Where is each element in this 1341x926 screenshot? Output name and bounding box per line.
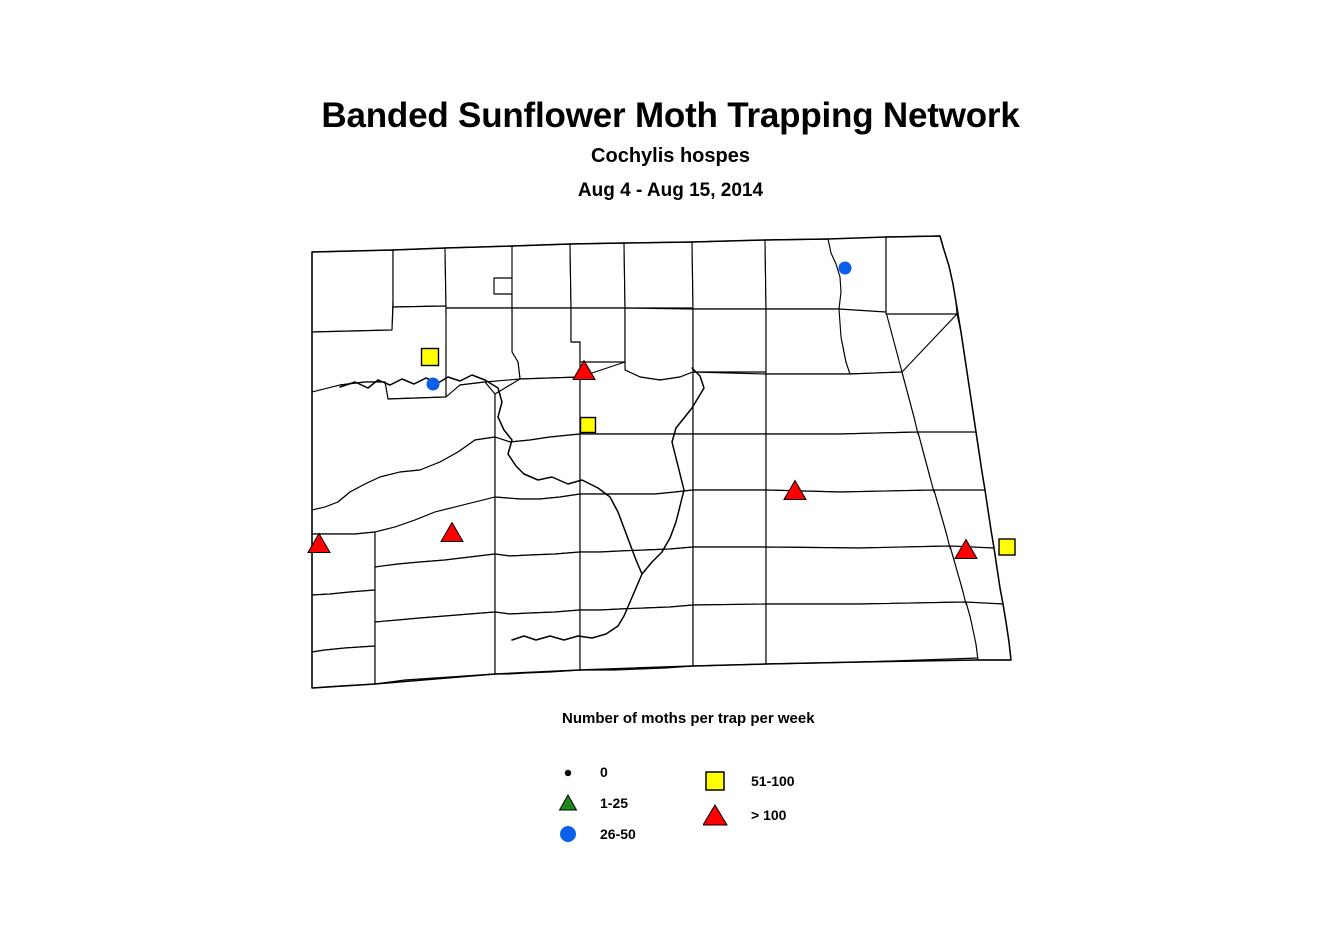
title-block: Banded Sunflower Moth Trapping Network C…: [0, 95, 1341, 203]
county-bowman: [312, 646, 375, 688]
county-walsh: [766, 309, 850, 374]
county-slope: [312, 590, 375, 652]
county-mercer-oliver: [495, 434, 580, 499]
county-burke: [393, 248, 446, 307]
county-boundaries: [312, 236, 978, 688]
legend-title: Number of moths per trap per week: [562, 710, 815, 727]
dot-icon: [558, 759, 590, 785]
county-grand-forks-north: [839, 309, 902, 374]
county-benson: [625, 308, 693, 380]
county-adams: [375, 612, 495, 684]
county-sioux: [580, 605, 693, 670]
trap-marker-yellow-southeast: [999, 539, 1015, 555]
county-sioux-west: [495, 610, 580, 674]
county-hettinger: [375, 554, 495, 622]
legend-item-26-50: 26-50: [558, 818, 636, 849]
county-barnes-cass: [766, 432, 934, 492]
triangle-icon-green: [558, 790, 590, 816]
legend-item-51-100: 51-100: [703, 764, 795, 798]
trap-marker-blue-ne: [839, 262, 852, 275]
county-sargent: [766, 602, 978, 664]
county-eddy-foster: [693, 372, 766, 434]
county-towner: [624, 242, 693, 308]
county-emmons: [580, 547, 693, 610]
county-ward: [512, 308, 580, 379]
county-pembina-east: [886, 236, 957, 314]
page-root: Banded Sunflower Moth Trapping Network C…: [0, 0, 1341, 926]
county-dickey: [693, 547, 766, 605]
county-sargent-richland: [766, 546, 966, 604]
triangle-icon-red: [703, 802, 735, 828]
square-icon-yellow: [703, 768, 735, 794]
county-morton: [495, 494, 580, 556]
legend-label-26-50: 26-50: [600, 826, 636, 842]
legend-label-over-100: > 100: [751, 807, 786, 823]
legend: Number of moths per trap per week 0 1-25: [540, 706, 900, 846]
trap-marker-yellow-central: [581, 418, 596, 433]
circle-icon-blue: [558, 821, 590, 847]
county-mcintosh: [693, 604, 766, 666]
county-renville: [445, 246, 513, 308]
county-grant: [495, 552, 580, 614]
county-burleigh-kidder: [580, 434, 693, 494]
legend-column-left: 0 1-25 26-50: [558, 756, 636, 849]
legend-item-1-25: 1-25: [558, 787, 636, 818]
legend-item-over-100: > 100: [703, 798, 795, 832]
date-range-subtitle: Aug 4 - Aug 15, 2014: [0, 179, 1341, 203]
species-subtitle: Cochylis hospes: [0, 143, 1341, 169]
county-divide: [312, 250, 393, 332]
county-lamoure: [693, 490, 766, 547]
county-pembina: [765, 239, 841, 309]
county-stutsman: [693, 434, 766, 490]
trap-marker-blue-nw: [427, 378, 440, 391]
legend-label-zero: 0: [600, 764, 608, 780]
legend-label-1-25: 1-25: [600, 795, 628, 811]
county-mclean: [495, 377, 580, 442]
county-ramsey: [693, 309, 766, 372]
county-rolette: [570, 243, 625, 308]
map-svg: [280, 222, 1070, 702]
county-griggs-steele: [766, 372, 918, 434]
county-bottineau: [512, 244, 571, 308]
legend-label-51-100: 51-100: [751, 773, 795, 789]
county-cavalier: [692, 240, 766, 309]
legend-column-right: 51-100 > 100: [703, 764, 795, 832]
north-dakota-county-map: [280, 222, 1070, 702]
legend-item-zero: 0: [558, 756, 636, 787]
page-title: Banded Sunflower Moth Trapping Network: [0, 95, 1341, 137]
trap-marker-yellow-nw: [422, 349, 439, 366]
